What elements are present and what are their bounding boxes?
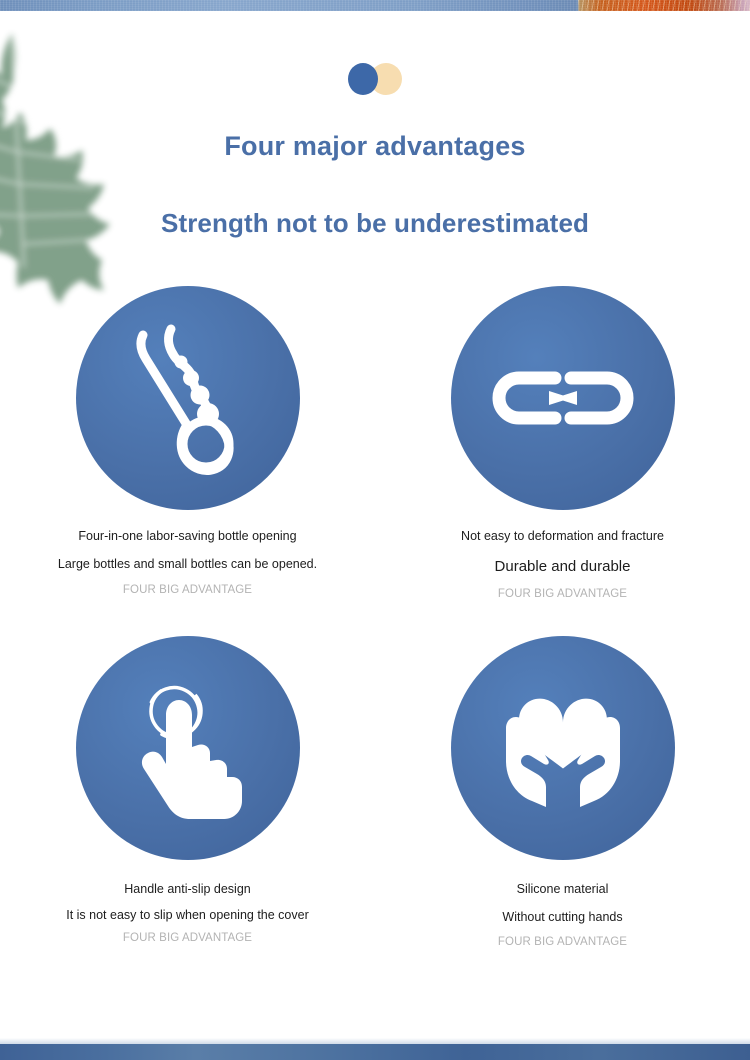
advantage-card-2: Not easy to deformation and fracture Dur… bbox=[375, 286, 750, 600]
caption-line: Large bottles and small bottles can be o… bbox=[0, 555, 375, 574]
hands-holding-heart-icon bbox=[451, 636, 675, 860]
advantage-caption-2: Not easy to deformation and fracture Dur… bbox=[375, 527, 750, 600]
advantage-caption-3: Handle anti-slip design It is not easy t… bbox=[0, 880, 375, 945]
advantage-tag: FOUR BIG ADVANTAGE bbox=[0, 932, 375, 944]
page-subtitle: Strength not to be underestimated bbox=[0, 208, 750, 239]
logo-circle-blue-icon bbox=[348, 63, 378, 95]
caption-line: Silicone material bbox=[375, 880, 750, 899]
banner-right-photo-fragment bbox=[578, 0, 750, 11]
bottle-opener-icon bbox=[76, 286, 300, 510]
caption-line: Durable and durable bbox=[375, 555, 750, 578]
chain-link-icon bbox=[451, 286, 675, 510]
hand-tap-icon bbox=[76, 636, 300, 860]
advantage-card-3: Handle anti-slip design It is not easy t… bbox=[0, 636, 375, 949]
advantage-caption-4: Silicone material Without cutting hands … bbox=[375, 880, 750, 949]
caption-line: Not easy to deformation and fracture bbox=[375, 527, 750, 546]
advantages-infographic-page: Four major advantages Strength not to be… bbox=[0, 0, 750, 1060]
denim-banner-strip bbox=[0, 0, 750, 11]
brand-logo bbox=[348, 63, 402, 95]
blue-footer-strip bbox=[0, 1044, 750, 1060]
caption-line: It is not easy to slip when opening the … bbox=[0, 908, 375, 923]
caption-line: Without cutting hands bbox=[375, 908, 750, 927]
advantage-caption-1: Four-in-one labor-saving bottle opening … bbox=[0, 527, 375, 596]
advantage-tag: FOUR BIG ADVANTAGE bbox=[0, 584, 375, 596]
advantage-card-1: Four-in-one labor-saving bottle opening … bbox=[0, 286, 375, 600]
caption-line: Four-in-one labor-saving bottle opening bbox=[0, 527, 375, 546]
advantages-grid: Four-in-one labor-saving bottle opening … bbox=[0, 286, 750, 948]
page-title: Four major advantages bbox=[0, 131, 750, 162]
advantages-row-2: Handle anti-slip design It is not easy t… bbox=[0, 636, 750, 949]
advantage-card-4: Silicone material Without cutting hands … bbox=[375, 636, 750, 949]
advantage-tag: FOUR BIG ADVANTAGE bbox=[375, 588, 750, 600]
advantage-tag: FOUR BIG ADVANTAGE bbox=[375, 936, 750, 948]
advantages-row-1: Four-in-one labor-saving bottle opening … bbox=[0, 286, 750, 600]
caption-line: Handle anti-slip design bbox=[0, 880, 375, 899]
